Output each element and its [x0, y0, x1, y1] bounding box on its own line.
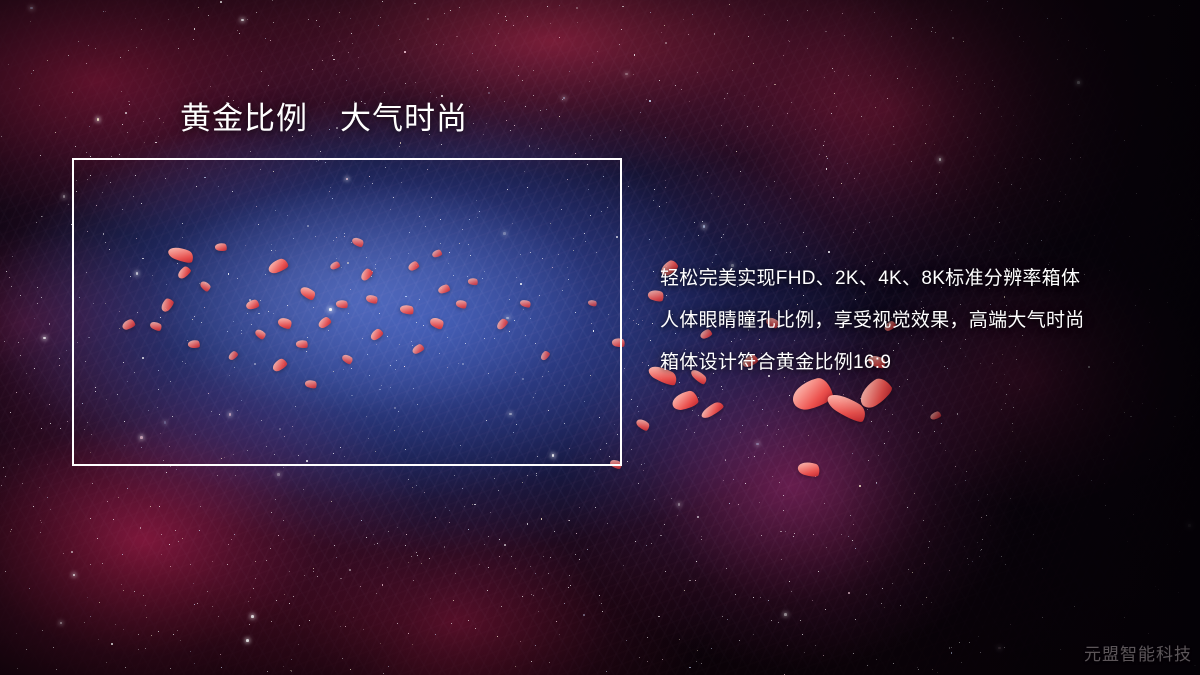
company-watermark: 元盟智能科技	[1084, 640, 1192, 665]
body-line-3: 箱体设计符合黄金比例16:9	[660, 342, 1170, 384]
photo-frame-16x9	[72, 158, 622, 466]
body-line-2: 人体眼睛瞳孔比例，享受视觉效果，高端大气时尚	[660, 300, 1170, 342]
photo-frame-content	[74, 160, 620, 464]
presentation-slide: 黄金比例 大气时尚 轻松完美实现FHD、2K、4K、8K标准分辨率箱体 人体眼睛…	[0, 0, 1200, 675]
rose-petal	[796, 459, 821, 479]
body-line-1: 轻松完美实现FHD、2K、4K、8K标准分辨率箱体	[660, 258, 1170, 300]
slide-title: 黄金比例 大气时尚	[180, 100, 468, 137]
body-copy-block: 轻松完美实现FHD、2K、4K、8K标准分辨率箱体 人体眼睛瞳孔比例，享受视觉效…	[660, 258, 1170, 384]
rose-petal	[824, 388, 869, 426]
rose-petal	[671, 389, 700, 411]
rose-petal	[929, 411, 942, 421]
rose-petal	[635, 417, 652, 433]
rose-petal	[699, 400, 725, 420]
